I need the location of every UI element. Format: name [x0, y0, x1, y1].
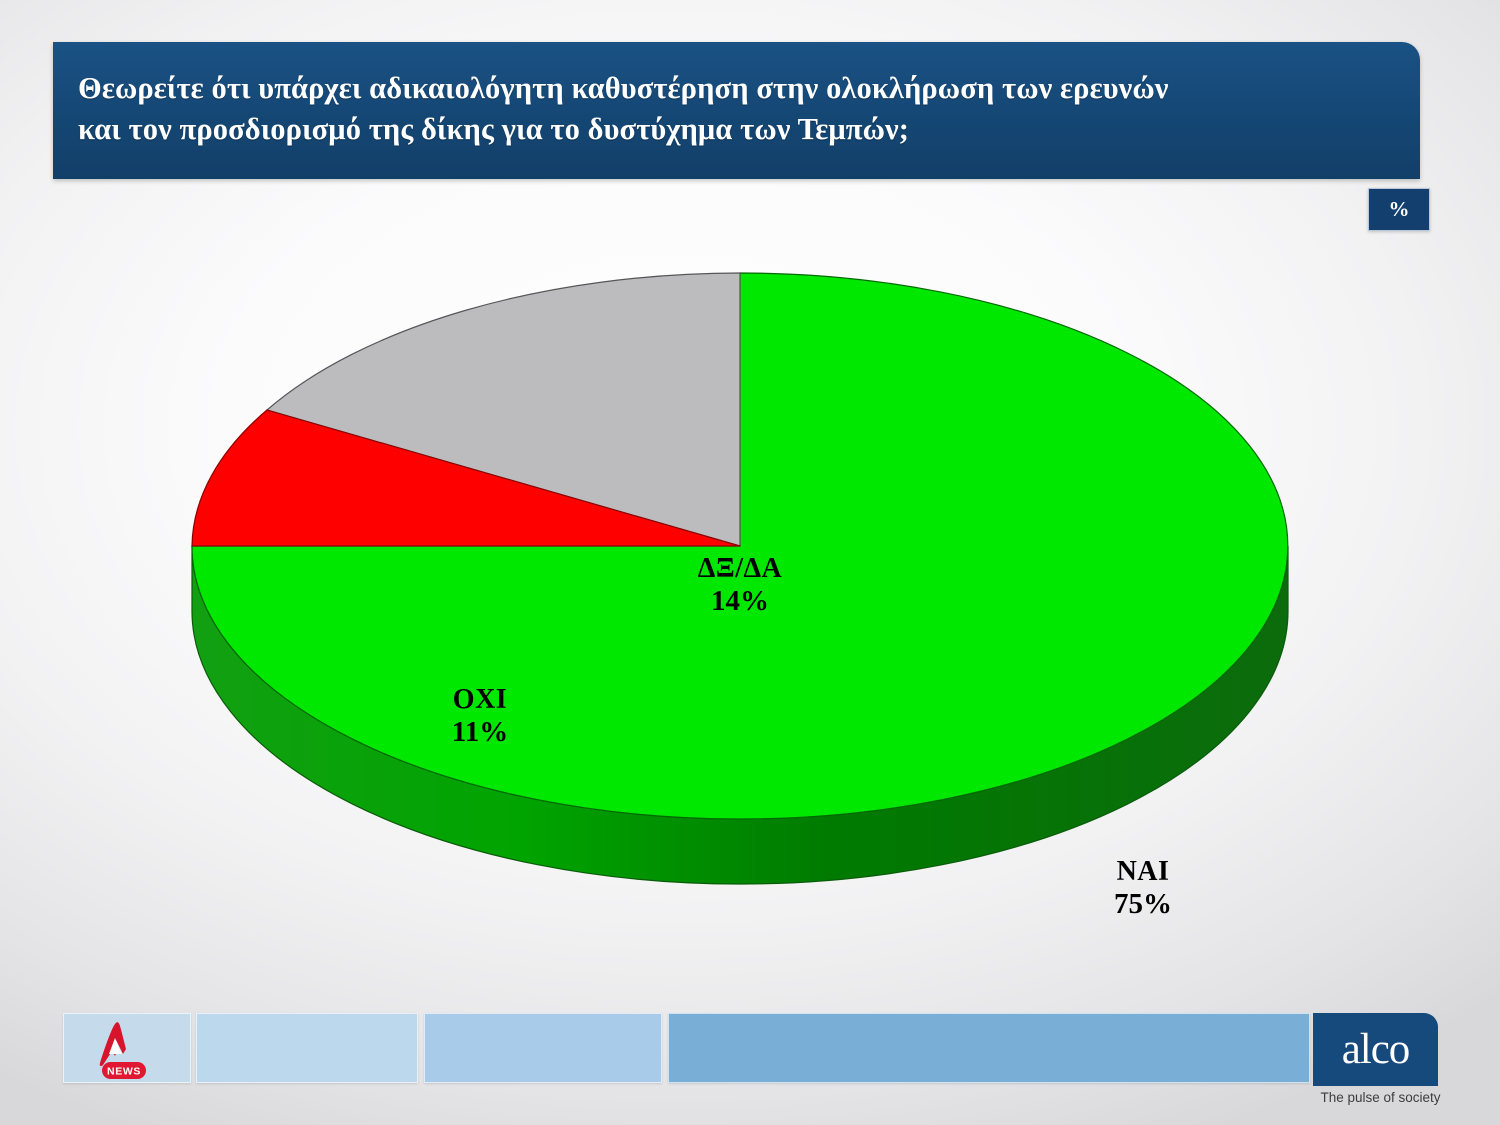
a-news-logo: NEWS	[85, 1020, 167, 1082]
footer-block-3	[424, 1013, 662, 1083]
footer-bar	[0, 1013, 1500, 1088]
a-news-badge-label: NEWS	[107, 1066, 141, 1078]
footer-block-2	[196, 1013, 418, 1083]
unit-badge: %	[1368, 188, 1430, 231]
page-title: Θεωρείτε ότι υπάρχει αδικαιολόγητη καθυσ…	[78, 68, 1402, 150]
alco-logo: alco	[1313, 1013, 1438, 1086]
alco-tagline: The pulse of society	[1313, 1090, 1448, 1105]
unit-badge-label: %	[1389, 197, 1410, 222]
footer-block-4	[668, 1013, 1310, 1083]
pie-chart-svg	[150, 250, 1350, 970]
alco-wordmark: alco	[1342, 1028, 1410, 1071]
question-header-bar: Θεωρείτε ότι υπάρχει αδικαιολόγητη καθυσ…	[53, 42, 1420, 179]
pie-chart: ΔΞ/ΔΑ 14% ΟΧΙ 11% ΝΑΙ 75%	[150, 250, 1350, 970]
